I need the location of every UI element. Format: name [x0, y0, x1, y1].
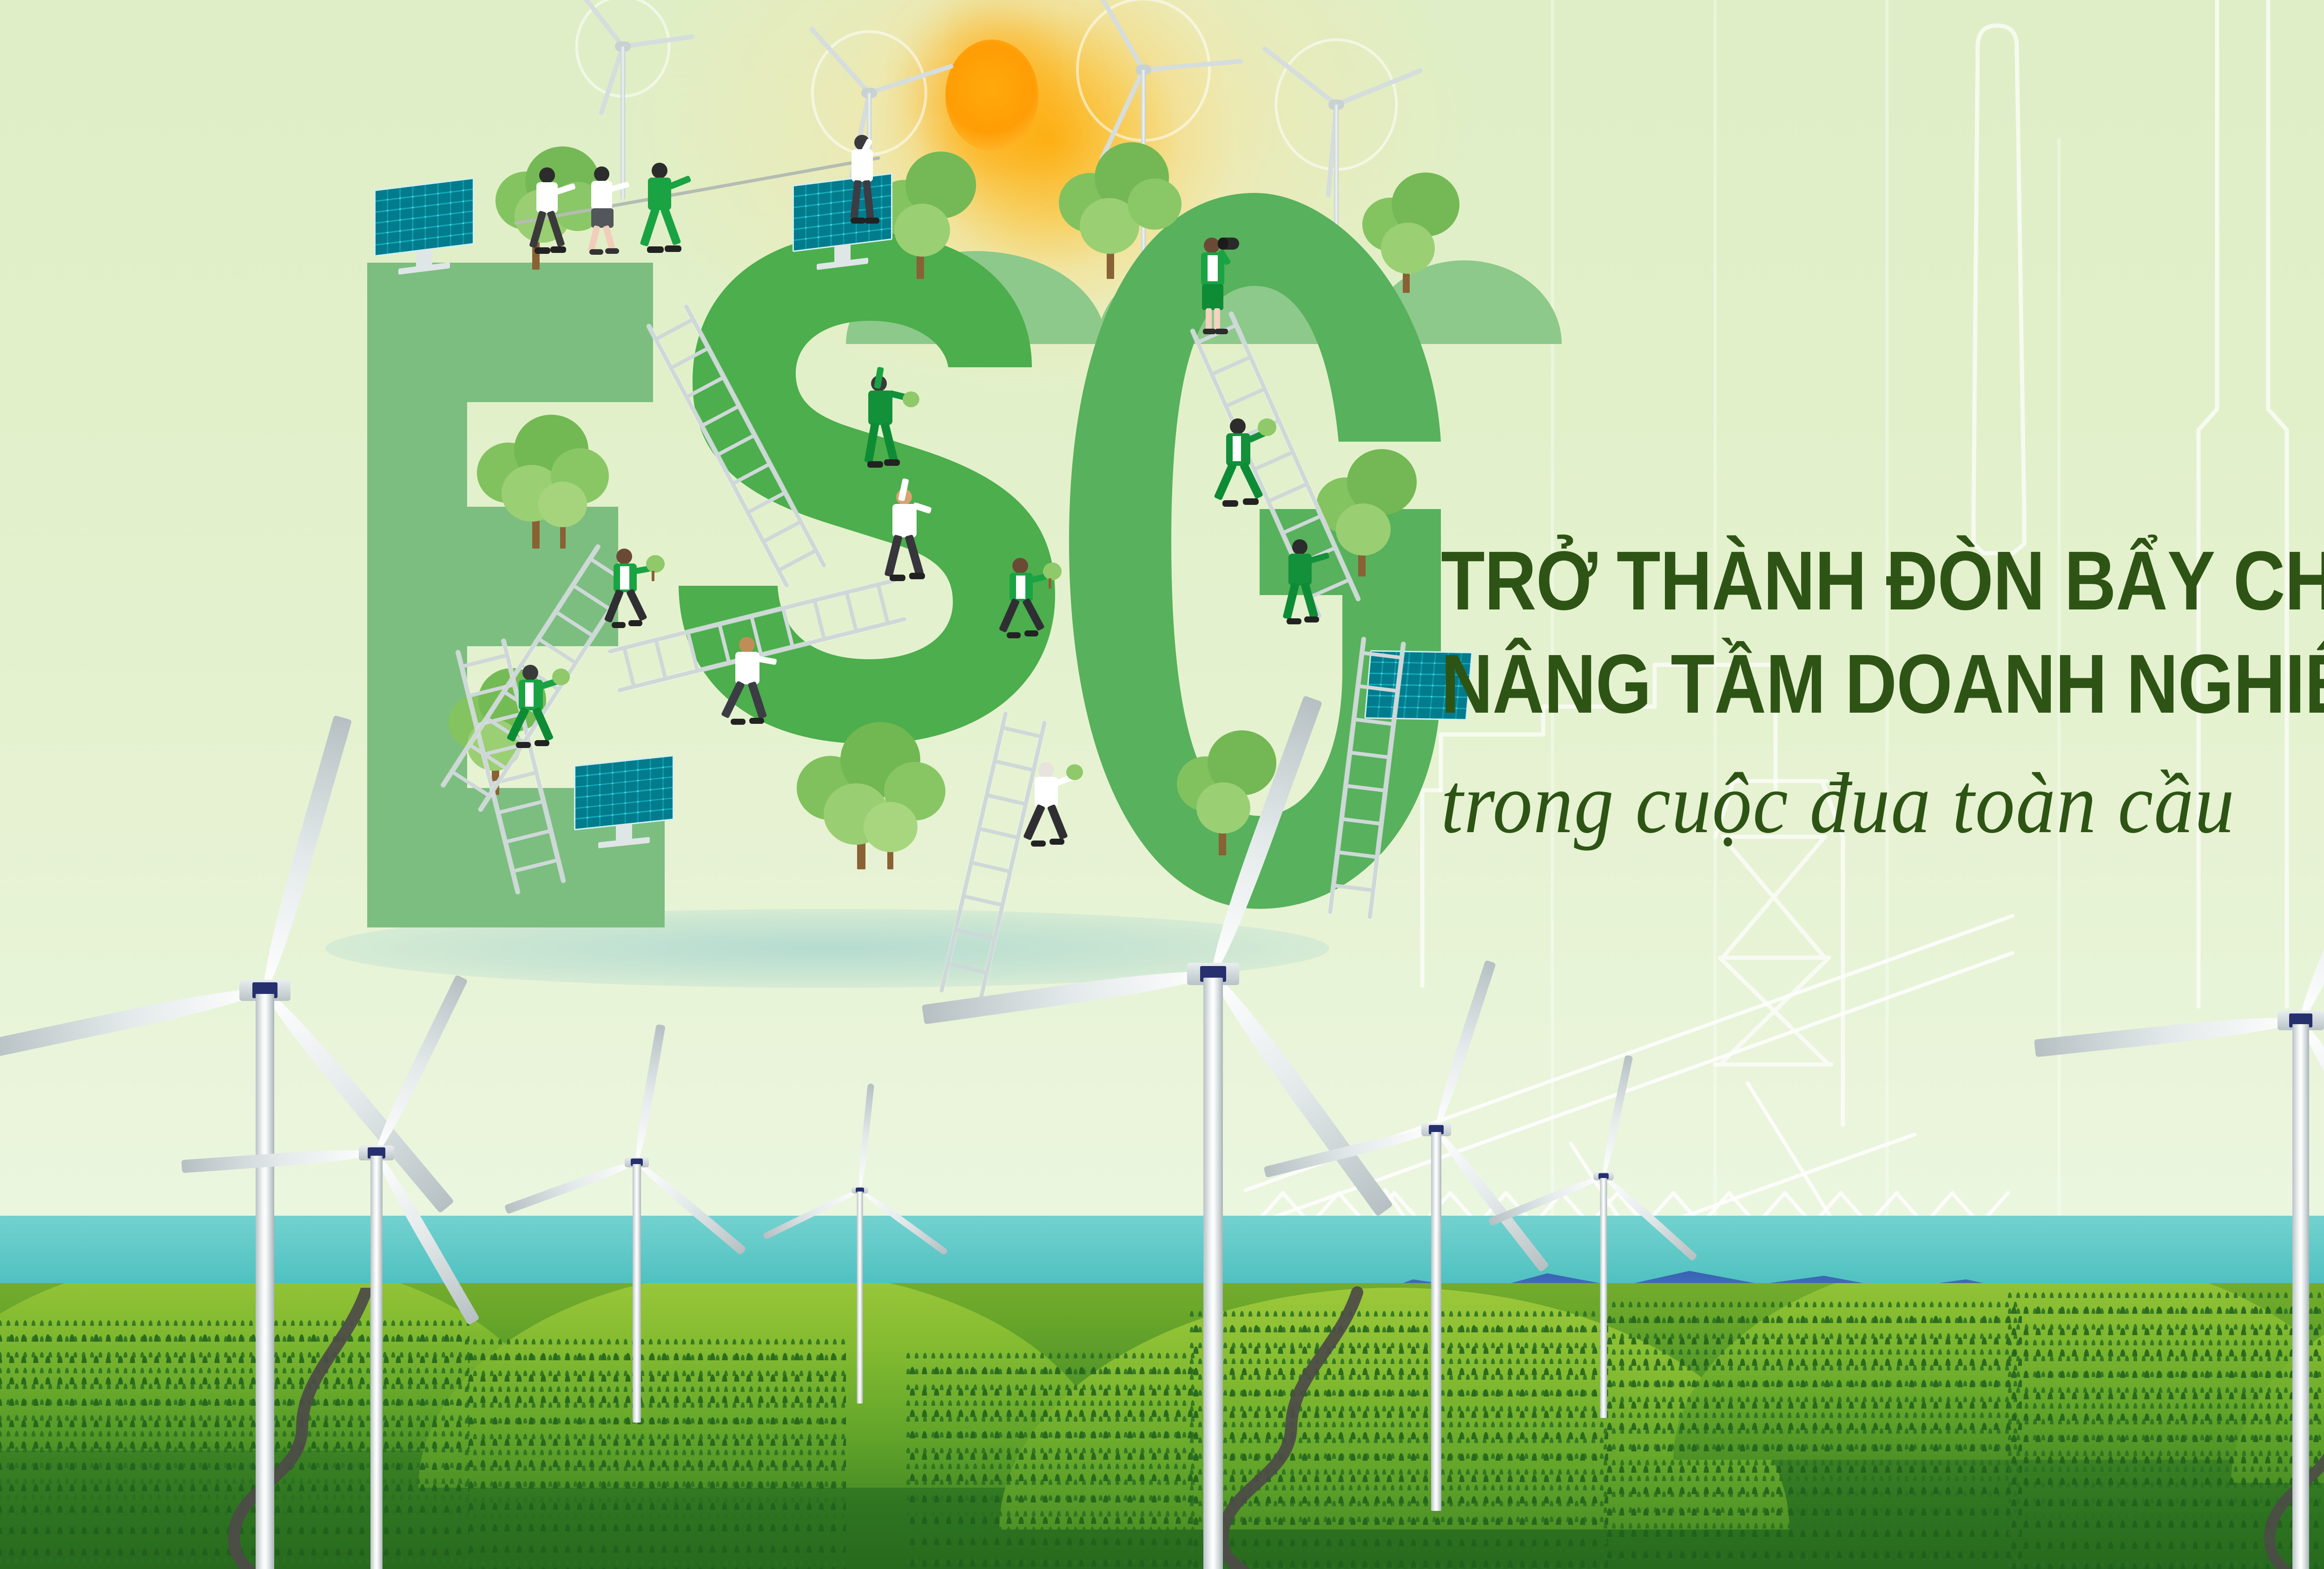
- person-icon: [502, 665, 572, 758]
- person-with-binoculars-icon: [1190, 235, 1250, 337]
- person-icon: [720, 637, 786, 735]
- solar-panel-icon: [374, 178, 474, 276]
- person-icon: [576, 166, 627, 255]
- sapling-icon: [552, 669, 570, 685]
- wind-turbine-icon: [809, 1190, 911, 1404]
- wind-turbine-icon: [1357, 1130, 1515, 1511]
- headline-line-2: NÂNG TẦM DOANH NGHIỆP VIỆT: [1441, 638, 2324, 731]
- binoculars-icon: [1218, 238, 1228, 250]
- wind-turbine-icon: [1543, 1176, 1664, 1418]
- person-icon: [1208, 418, 1278, 516]
- tree-icon: [1343, 167, 1478, 293]
- wind-turbine-icon: [2194, 1020, 2324, 1569]
- tree-icon: [465, 409, 618, 549]
- sapling-icon: [903, 391, 919, 407]
- person-icon: [521, 167, 572, 256]
- wind-turbine-icon: [567, 1162, 706, 1423]
- tree-icon: [1041, 139, 1190, 279]
- solar-panel-icon: [574, 755, 674, 849]
- wind-turbine-icon: [1097, 974, 1329, 1569]
- tree-icon: [790, 716, 957, 869]
- forest-texture: [1604, 1302, 2022, 1569]
- person-icon: [600, 549, 665, 637]
- person-icon: [1018, 762, 1085, 858]
- sapling-icon: [1066, 764, 1083, 780]
- sapling-icon: [646, 555, 665, 573]
- subtitle: trong cuộc đua toàn cầu: [1441, 758, 2324, 849]
- sapling-icon: [1043, 563, 1062, 580]
- letter-e-arm-top: [367, 263, 653, 402]
- poster-canvas: TRỞ THÀNH ĐÒN BẨY CHIẾN LƯỢC NÂNG TẦM DO…: [0, 0, 2324, 1569]
- sun-icon: [945, 40, 1038, 151]
- person-icon: [837, 135, 888, 228]
- person-icon: [874, 479, 939, 590]
- sapling-icon: [1258, 418, 1276, 436]
- person-icon: [851, 367, 916, 474]
- person-icon: [1274, 539, 1339, 632]
- wind-turbine-icon: [288, 1153, 465, 1569]
- headline-line-1: TRỞ THÀNH ĐÒN BẨY CHIẾN LƯỢC: [1441, 535, 2324, 628]
- person-icon: [632, 163, 688, 256]
- person-icon: [995, 558, 1062, 649]
- headline-block: TRỞ THÀNH ĐÒN BẨY CHIẾN LƯỢC NÂNG TẦM DO…: [1441, 535, 2324, 849]
